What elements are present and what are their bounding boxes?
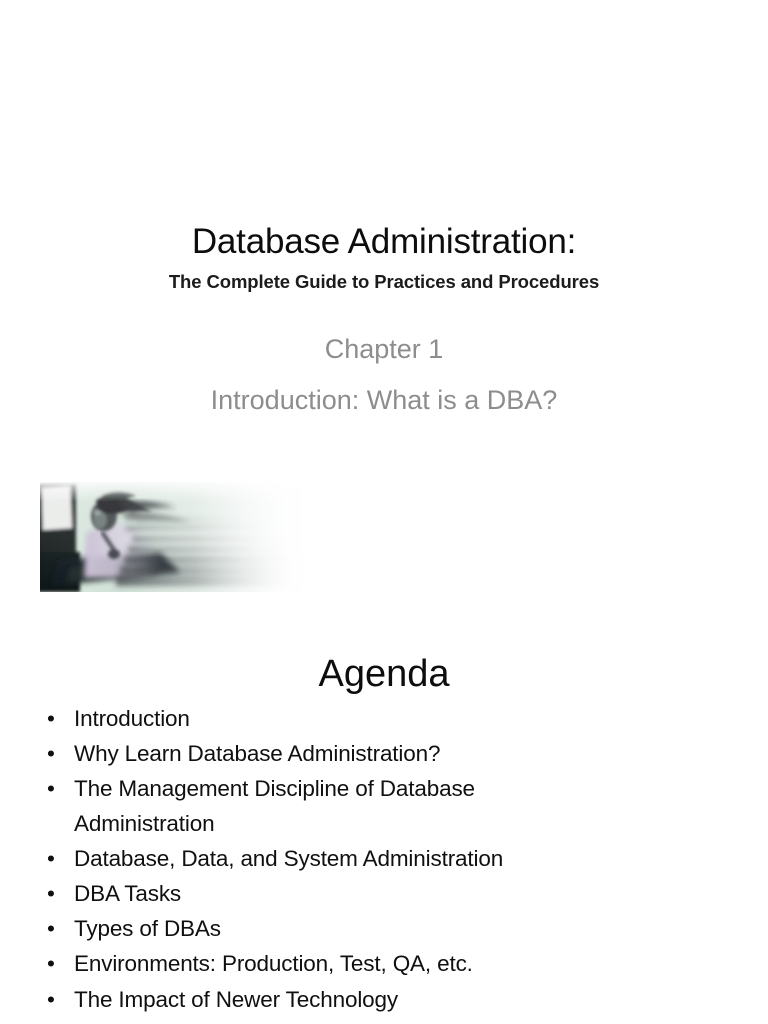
list-item: • The Impact of Newer Technology (40, 983, 730, 1017)
bullet-icon: • (47, 737, 55, 771)
bullet-icon: • (47, 772, 55, 806)
bullet-icon: • (47, 947, 55, 981)
list-item-label: The Management Discipline of Database Ad… (74, 776, 475, 835)
agenda-heading: Agenda (0, 654, 768, 696)
list-item: • Why Learn Database Administration? (40, 737, 730, 771)
page-subtitle: The Complete Guide to Practices and Proc… (0, 271, 768, 292)
list-item: • Types of DBAs (40, 912, 730, 946)
list-item: • DBA Tasks (40, 877, 730, 911)
list-item-label: Introduction (74, 706, 190, 731)
list-item-label: Types of DBAs (74, 916, 221, 941)
list-item: • Environments: Production, Test, QA, et… (40, 947, 730, 981)
list-item-label: Database, Data, and System Administratio… (74, 846, 503, 871)
slide-agenda: Agenda • Introduction • Why Learn Databa… (0, 578, 768, 1024)
bullet-icon: • (47, 983, 55, 1017)
chapter-number: Chapter 1 (0, 334, 768, 365)
bullet-icon: • (47, 702, 55, 736)
bullet-icon: • (47, 842, 55, 876)
person-at-computer-motion-blur-photo (40, 482, 322, 592)
agenda-list: • Introduction • Why Learn Database Admi… (40, 702, 730, 1018)
list-item-label: Why Learn Database Administration? (74, 741, 440, 766)
photo-artwork (40, 482, 322, 592)
chapter-subject: Introduction: What is a DBA? (0, 385, 768, 416)
list-item: • Introduction (40, 702, 730, 736)
list-item-label: DBA Tasks (74, 881, 181, 906)
page-title: Database Administration: (0, 223, 768, 262)
list-item: • The Management Discipline of Database … (40, 772, 604, 840)
slide-title: Database Administration: The Complete Gu… (0, 0, 768, 578)
bullet-icon: • (47, 912, 55, 946)
bullet-icon: • (47, 877, 55, 911)
document-page: Database Administration: The Complete Gu… (0, 0, 768, 1024)
list-item: • Database, Data, and System Administrat… (40, 842, 730, 876)
list-item-label: The Impact of Newer Technology (74, 987, 398, 1012)
list-item-label: Environments: Production, Test, QA, etc. (74, 951, 473, 976)
